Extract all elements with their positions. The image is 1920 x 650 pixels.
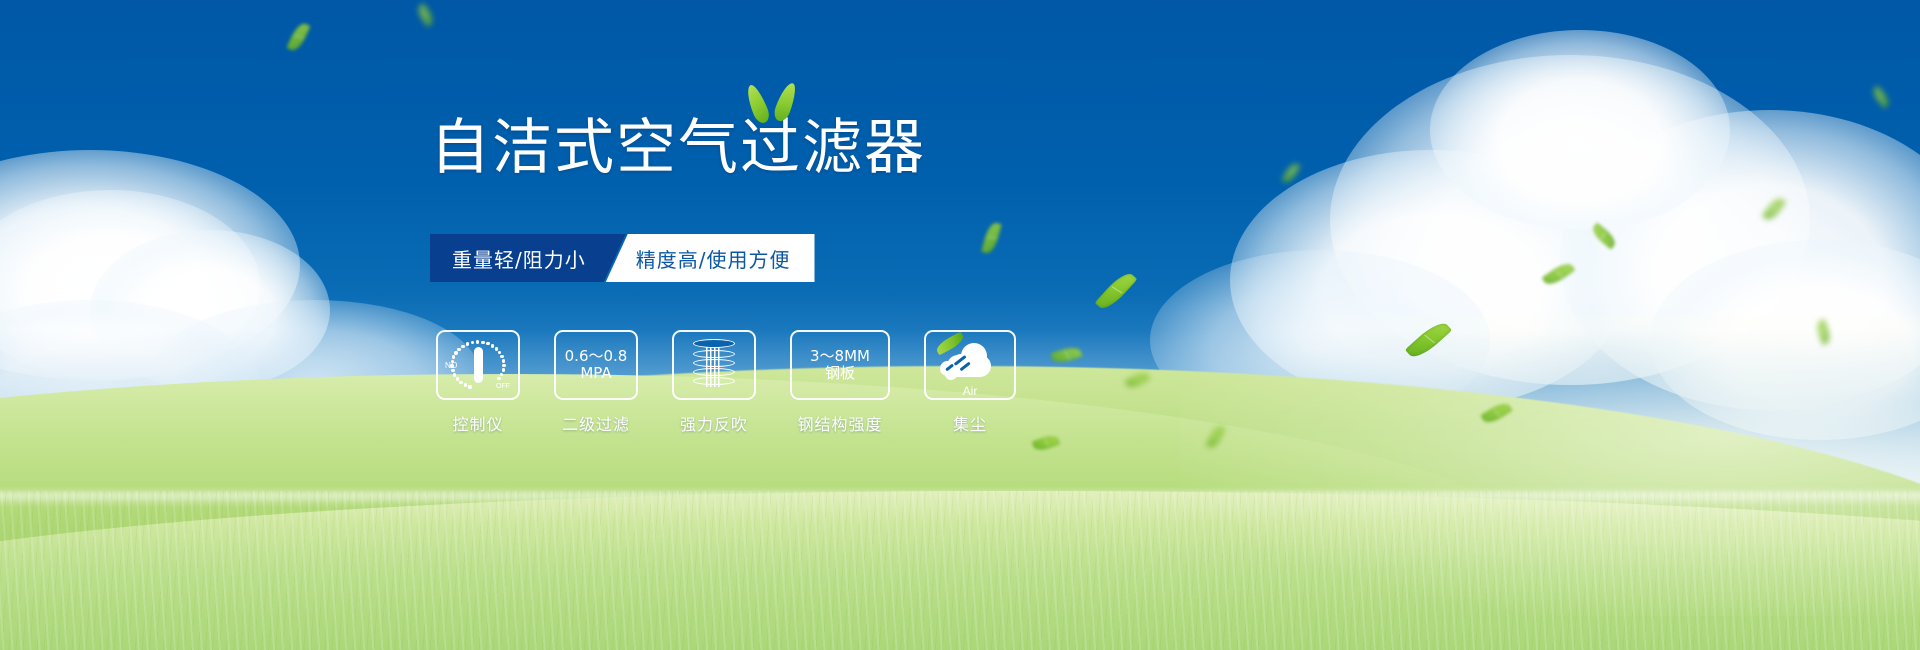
dial-dot: [500, 355, 503, 358]
feature-list: NO OFF 控制仪 0.6～0.8 MPA 二级过滤: [436, 330, 1016, 435]
dial-dot: [476, 340, 479, 343]
feature-item-pressure[interactable]: 0.6～0.8 MPA 二级过滤: [554, 330, 638, 435]
dial-dot: [498, 351, 501, 354]
dial-dot: [457, 348, 460, 351]
feature-label: 集尘: [953, 411, 987, 435]
dial-dot: [459, 381, 462, 384]
title-block: 自洁式空气过滤器: [430, 118, 926, 178]
dial-dot: [502, 359, 505, 362]
feature-icon-box: 0.6～0.8 MPA: [554, 330, 638, 400]
feature-label: 控制仪: [452, 411, 503, 435]
power-bar-icon: [474, 347, 483, 383]
dial-dot: [456, 377, 459, 380]
dial-dot: [481, 341, 484, 344]
cartridge-ring: [693, 368, 735, 376]
feature-item-blowback[interactable]: 强力反吹: [672, 330, 756, 435]
leaf-icon: [772, 81, 800, 124]
dial-dot: [454, 351, 457, 354]
air-cloud-icon: Air: [939, 344, 1001, 386]
dial-dot: [497, 377, 500, 380]
dial-dot: [491, 344, 494, 347]
feature-label: 钢结构强度: [797, 411, 882, 435]
cartridge-ring: [693, 359, 735, 367]
dial-dot: [452, 355, 455, 358]
dial-dot: [453, 373, 456, 376]
page-title: 自洁式空气过滤器: [430, 118, 926, 178]
dial-dot: [486, 342, 489, 345]
feature-label: 二级过滤: [562, 411, 630, 435]
steel-thickness-text: 3～8MM: [810, 348, 870, 365]
dial-dot: [468, 385, 471, 388]
feature-item-controller[interactable]: NO OFF 控制仪: [436, 330, 520, 435]
dial-dot: [466, 342, 469, 345]
dial-dot: [461, 345, 464, 348]
dial-dot: [500, 373, 503, 376]
dial-dot: [464, 383, 467, 386]
feature-item-steel[interactable]: 3～8MM 钢板 钢结构强度: [790, 330, 890, 435]
dial-dot: [502, 368, 505, 371]
dial-label-off: OFF: [496, 383, 510, 390]
cartridge-cap: [693, 339, 735, 348]
cartridge-ring: [693, 350, 735, 358]
pressure-unit-text: MPA: [580, 365, 611, 382]
dial-dot: [495, 347, 498, 350]
dial-gauge-icon: NO OFF: [447, 339, 509, 391]
pressure-range-text: 0.6～0.8: [565, 348, 628, 365]
tag-primary: 重量轻/阻力小: [430, 234, 626, 282]
hero-banner: 自洁式空气过滤器 重量轻/阻力小 精度高/使用方便 NO OFF 控制仪: [0, 0, 1920, 650]
feature-icon-box: Air: [924, 330, 1016, 400]
steel-material-text: 钢板: [825, 365, 855, 382]
filter-cartridge-icon: [691, 339, 737, 391]
feature-label: 强力反吹: [680, 411, 748, 435]
tag-secondary: 精度高/使用方便: [606, 234, 815, 282]
dial-dot: [502, 364, 505, 367]
dial-dot: [471, 341, 474, 344]
air-label: Air: [939, 384, 1001, 398]
leaf-icon: [743, 83, 772, 126]
title-leaf-decoration: [748, 82, 808, 126]
dial-label-on: NO: [445, 361, 458, 370]
feature-icon-box: [672, 330, 756, 400]
cartridge-ring: [693, 377, 735, 385]
subtitle-tags: 重量轻/阻力小 精度高/使用方便: [430, 234, 815, 282]
feature-item-dust[interactable]: Air 集尘: [924, 330, 1016, 435]
feature-icon-box: 3～8MM 钢板: [790, 330, 890, 400]
feature-icon-box: NO OFF: [436, 330, 520, 400]
